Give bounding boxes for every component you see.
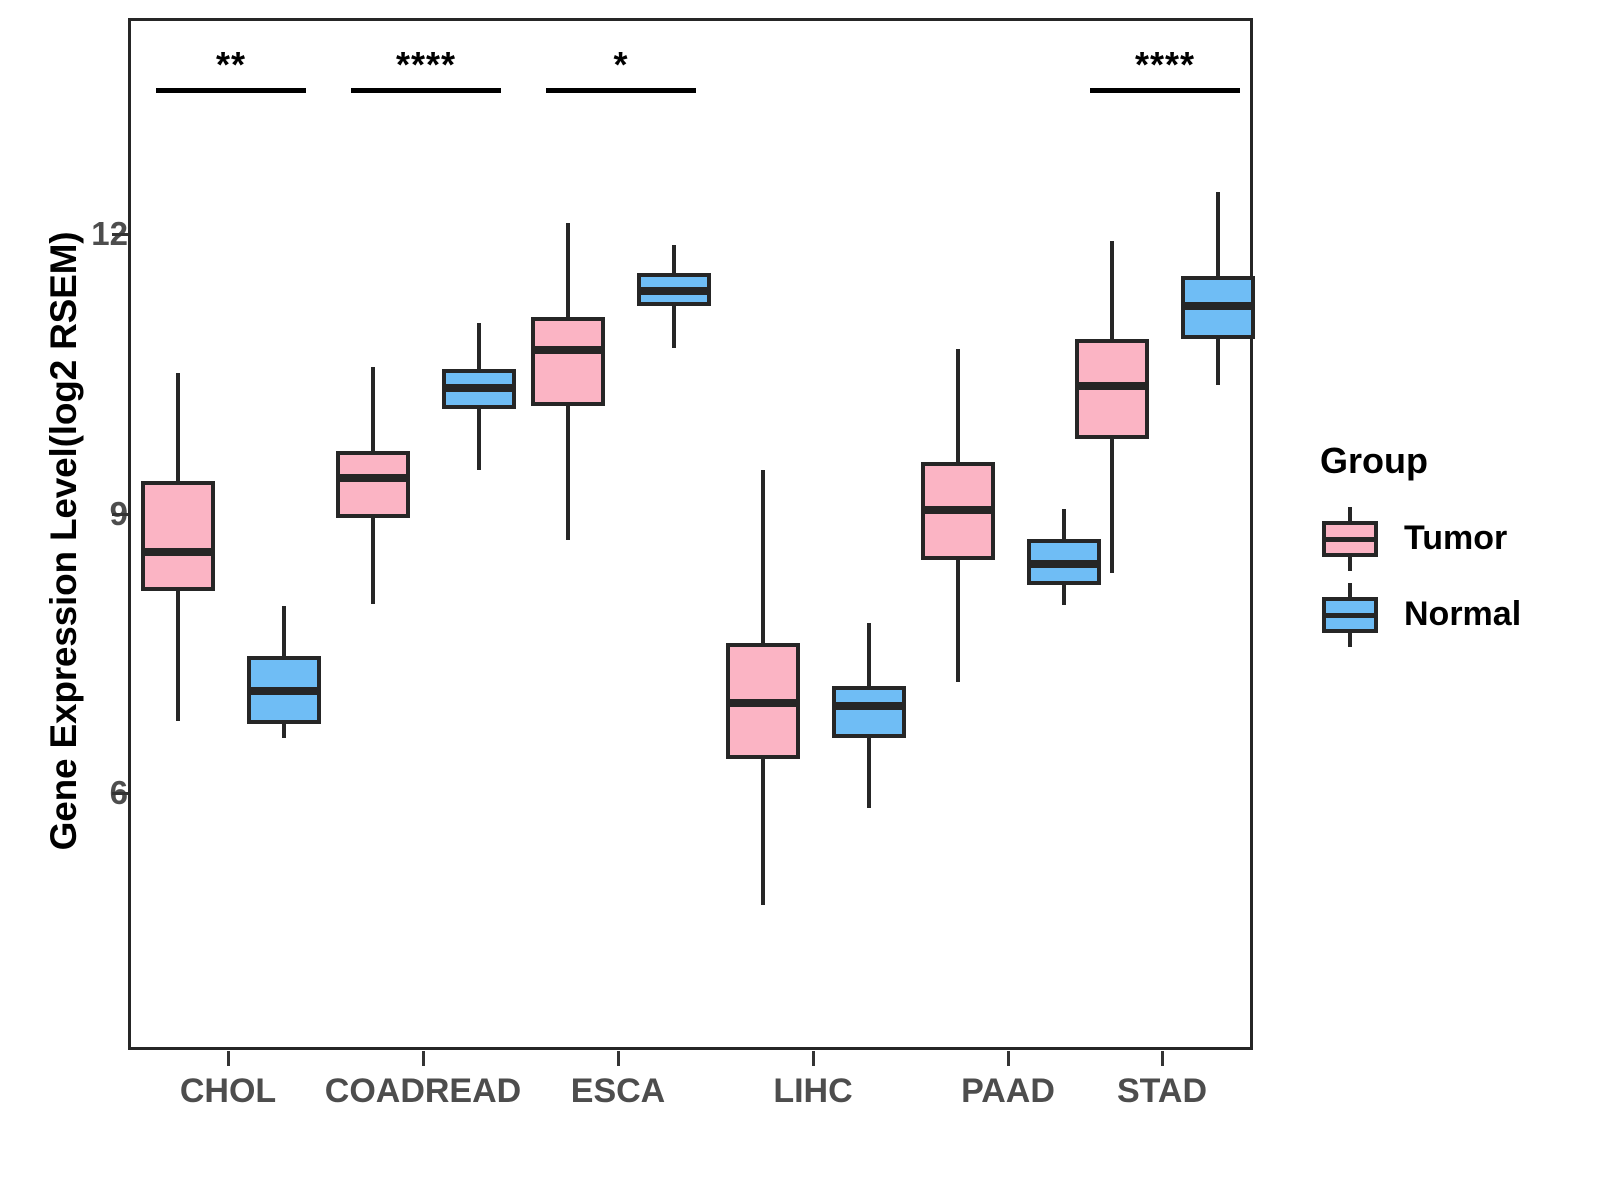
x-tick-label-coadread: COADREAD [325, 1072, 521, 1111]
median-line [336, 474, 410, 482]
median-line [832, 702, 906, 710]
plot-area: *********** [131, 21, 1250, 1047]
legend-median-line [1322, 613, 1378, 618]
y-tick-label: 6 [8, 774, 128, 812]
box-tumor-coadread [336, 451, 410, 518]
significance-stars-stad: **** [1135, 44, 1195, 86]
plot-panel: *********** [128, 18, 1253, 1050]
legend-label: Tumor [1404, 519, 1507, 558]
y-tick-label: 12 [8, 215, 128, 253]
median-line [141, 548, 215, 556]
significance-stars-esca: * [613, 44, 628, 86]
legend-whisker-bottom [1348, 555, 1352, 571]
x-tick-label-paad: PAAD [961, 1072, 1055, 1111]
x-tick-label-lihc: LIHC [773, 1072, 852, 1111]
y-tick-label: 9 [8, 495, 128, 533]
median-line [531, 346, 605, 354]
x-tick-mark [1007, 1051, 1010, 1066]
box-normal-lihc [832, 686, 906, 738]
median-line [637, 287, 711, 295]
median-line [442, 384, 516, 392]
median-line [1075, 382, 1149, 390]
x-tick-label-chol: CHOL [180, 1072, 276, 1111]
significance-bracket [351, 88, 501, 93]
significance-bracket [1090, 88, 1240, 93]
x-tick-mark [227, 1051, 230, 1066]
median-line [726, 699, 800, 707]
legend-whisker-bottom [1348, 631, 1352, 647]
box-tumor-chol [141, 481, 215, 591]
legend-key-icon [1320, 583, 1382, 645]
significance-stars-coadread: **** [396, 44, 456, 86]
median-line [921, 506, 995, 514]
x-tick-mark [617, 1051, 620, 1066]
x-tick-label-stad: STAD [1117, 1072, 1207, 1111]
significance-bracket [156, 88, 306, 93]
box-tumor-esca [531, 317, 605, 406]
x-tick-mark [812, 1051, 815, 1066]
x-tick-mark [422, 1051, 425, 1066]
legend-entries: TumorNormal [1320, 500, 1580, 652]
y-tick-mark [112, 513, 128, 516]
median-line [1181, 302, 1255, 310]
y-tick-mark [112, 792, 128, 795]
y-tick-mark [112, 233, 128, 236]
median-line [1027, 560, 1101, 568]
legend-title: Group [1320, 440, 1580, 482]
chart-figure: Gene Expression Level(log2 RSEM) 6912 **… [0, 0, 1600, 1200]
x-tick-mark [1161, 1051, 1164, 1066]
legend-key-icon [1320, 507, 1382, 569]
x-tick-label-esca: ESCA [571, 1072, 665, 1111]
legend-item-tumor[interactable]: Tumor [1320, 500, 1580, 576]
legend-median-line [1322, 537, 1378, 542]
legend-label: Normal [1404, 595, 1521, 634]
legend-item-normal[interactable]: Normal [1320, 576, 1580, 652]
median-line [247, 687, 321, 695]
legend: Group TumorNormal [1320, 440, 1580, 652]
significance-stars-chol: ** [216, 44, 246, 86]
significance-bracket [546, 88, 696, 93]
